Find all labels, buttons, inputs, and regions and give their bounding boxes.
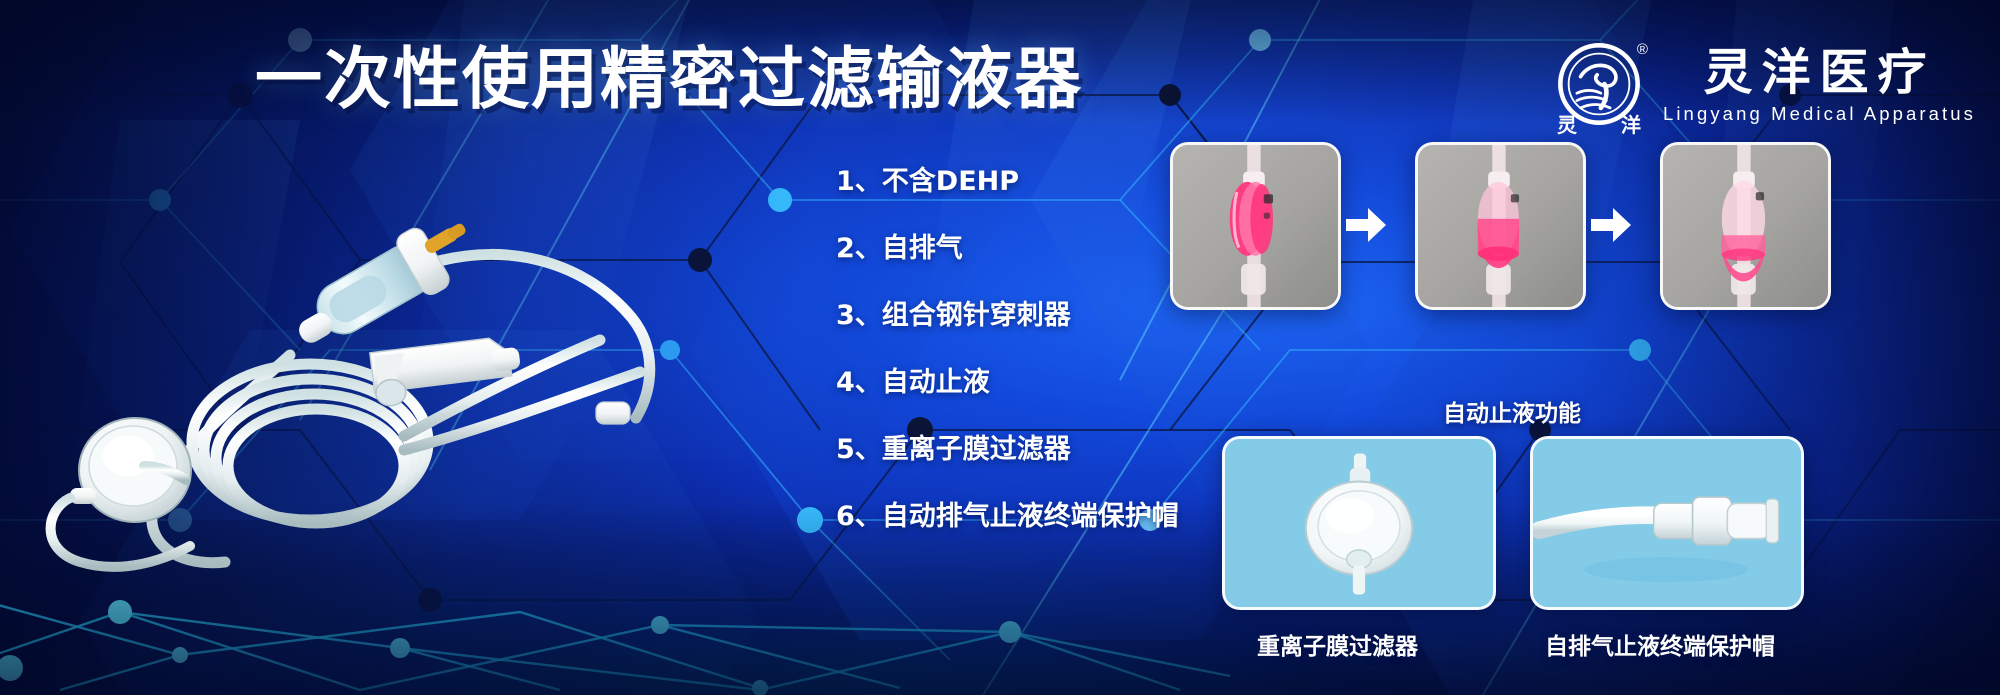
- brand-name-block: 灵洋医疗 Lingyang Medical Apparatus: [1663, 47, 1976, 124]
- drip-chamber-part: [282, 205, 486, 362]
- brand-name-cn: 灵洋医疗: [1703, 47, 1935, 98]
- heavy-ion-membrane-filter-photo: [1222, 436, 1496, 610]
- infusion-set-product-photo: [40, 150, 660, 570]
- heavy-ion-membrane-filter-caption: 重离子膜过滤器: [1257, 627, 1418, 661]
- luer-connector-part: [596, 402, 630, 424]
- logo-mark-cn-right: 洋: [1621, 109, 1641, 138]
- registered-trademark-icon: ®: [1637, 42, 1648, 57]
- sequence-arrow-2-icon: [1589, 206, 1633, 244]
- auto-stop-step-3-photo: [1660, 142, 1831, 310]
- auto-stop-step-2-photo: [1415, 142, 1586, 310]
- auto-vent-stop-end-cap-photo: [1530, 436, 1804, 610]
- feature-item-2: 2、自排气: [836, 235, 1179, 262]
- feature-item-5: 5、重离子膜过滤器: [836, 436, 1179, 463]
- logo-mark-cn-left: 灵: [1557, 109, 1577, 138]
- feature-item-4: 4、自动止液: [836, 369, 1179, 396]
- feature-list: 1、不含DEHP 2、自排气 3、组合钢针穿刺器 4、自动止液 5、重离子膜过滤…: [836, 168, 1179, 530]
- auto-vent-stop-end-cap-caption: 自排气止液终端保护帽: [1545, 627, 1775, 661]
- sequence-arrow-1-icon: [1344, 206, 1388, 244]
- product-banner: 一次性使用精密过滤输液器 ® 灵 洋 灵洋医疗 Lingyang Medical…: [0, 0, 2000, 695]
- feature-item-6: 6、自动排气止液终端保护帽: [836, 503, 1179, 530]
- lingyang-wave-emblem-icon: ® 灵 洋: [1553, 38, 1645, 134]
- brand-logo: ® 灵 洋 灵洋医疗 Lingyang Medical Apparatus: [1553, 38, 1976, 134]
- page-title: 一次性使用精密过滤输液器: [255, 46, 1083, 113]
- auto-stop-sequence-caption: 自动止液功能: [1443, 394, 1581, 428]
- feature-item-3: 3、组合钢针穿刺器: [836, 302, 1179, 329]
- brand-name-en: Lingyang Medical Apparatus: [1663, 103, 1976, 125]
- roller-clamp-part: [370, 335, 524, 408]
- feature-item-1: 1、不含DEHP: [836, 168, 1179, 195]
- auto-stop-step-1-photo: [1170, 142, 1341, 310]
